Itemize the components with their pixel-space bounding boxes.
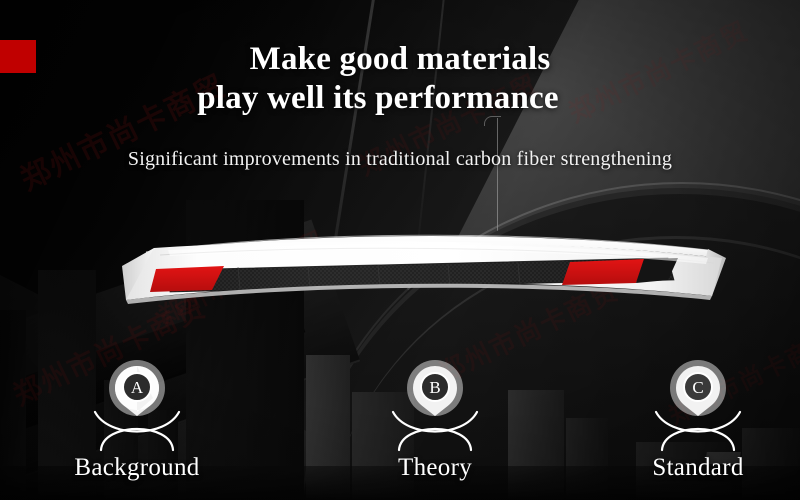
feature-badge-background[interactable]: A Background (57, 360, 217, 482)
feature-badge-theory[interactable]: B Theory (355, 360, 515, 482)
badge-letter-a: A (131, 378, 144, 397)
badge-letter-c: C (692, 378, 703, 397)
product-image (108, 222, 728, 327)
feature-badge-row: A Background B Theory (0, 360, 800, 500)
map-pin-person-icon: B (355, 360, 515, 452)
badge-icon-c-svg: C (618, 360, 778, 452)
badge-icon-a-svg: A (57, 360, 217, 452)
page-subtitle: Significant improvements in traditional … (0, 148, 800, 171)
map-pin-person-icon: A (57, 360, 217, 452)
page-title-line-1: Make good materials (0, 40, 800, 79)
feature-badge-label-standard: Standard (618, 454, 778, 482)
page-title: Make good materials play well its perfor… (0, 40, 800, 118)
page-title-line-2: play well its performance (0, 79, 800, 118)
feature-badge-label-background: Background (57, 454, 217, 482)
carbon-fiber-panel-illustration (108, 222, 728, 327)
banner-stage: 郑州市尚卡商贸 郑州市尚卡商贸 郑州市尚卡商贸 郑州市尚卡商贸 郑州市尚卡商贸 … (0, 0, 800, 500)
feature-badge-label-theory: Theory (355, 454, 515, 482)
map-pin-person-icon: C (618, 360, 778, 452)
feature-badge-standard[interactable]: C Standard (618, 360, 778, 482)
badge-letter-b: B (429, 378, 440, 397)
badge-icon-b-svg: B (355, 360, 515, 452)
